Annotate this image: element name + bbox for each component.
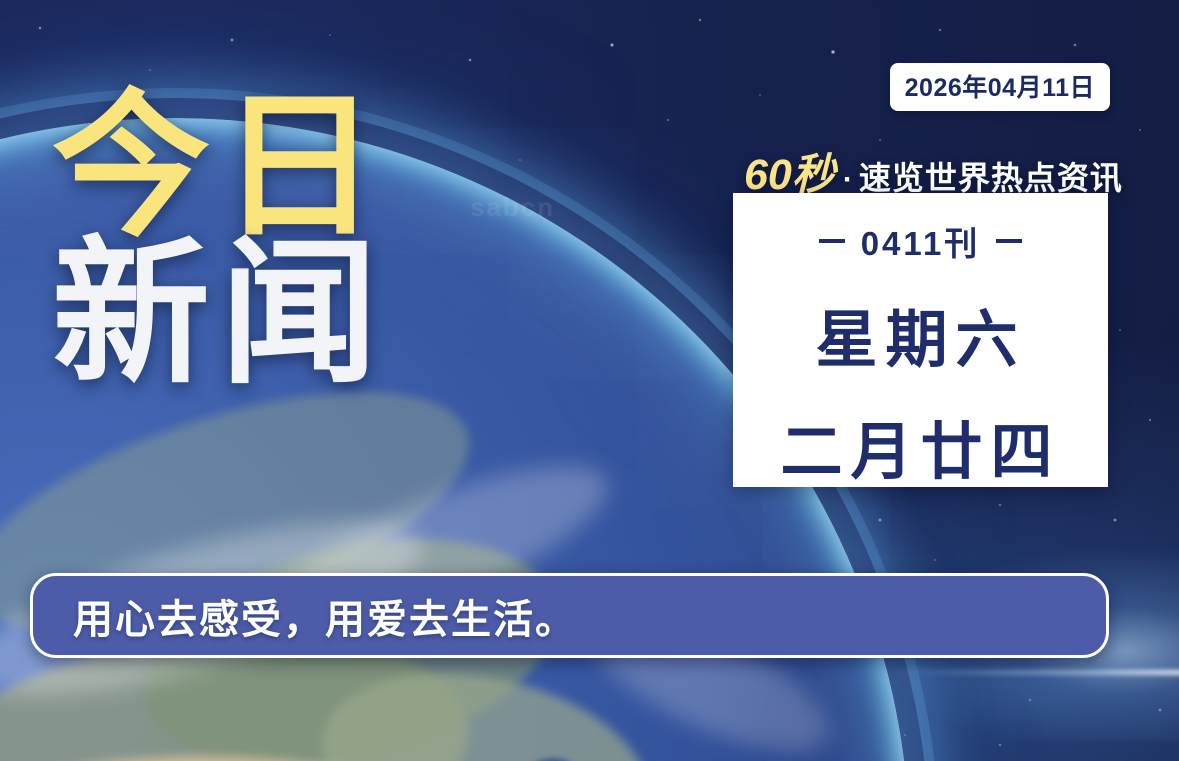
date-info-card: 0411刊 星期六 二月廿四: [733, 193, 1108, 487]
quote-text: 用心去感受，用爱去生活。: [73, 587, 577, 645]
lunar-date-label: 二月廿四: [780, 401, 1060, 491]
issue-row: 0411刊: [819, 217, 1023, 265]
tagline-separator: ·: [843, 163, 853, 197]
weekday-label: 星期六: [815, 289, 1025, 379]
poster-content: sabcn 今日 新闻 2026年04月11日 60秒 · 速览世界热点资讯 0…: [0, 0, 1179, 761]
quote-banner: 用心去感受，用爱去生活。: [30, 573, 1109, 658]
title-line-today: 今日: [52, 95, 388, 240]
date-badge: 2026年04月11日: [890, 63, 1110, 111]
dash-right-icon: [996, 239, 1022, 243]
page-title: 今日 新闻: [52, 95, 388, 388]
watermark-text: sabcn: [470, 192, 555, 223]
title-line-news: 新闻: [52, 242, 388, 387]
news-poster: sabcn 今日 新闻 2026年04月11日 60秒 · 速览世界热点资讯 0…: [0, 0, 1179, 761]
issue-number: 0411刊: [861, 217, 981, 265]
dash-left-icon: [819, 239, 845, 243]
